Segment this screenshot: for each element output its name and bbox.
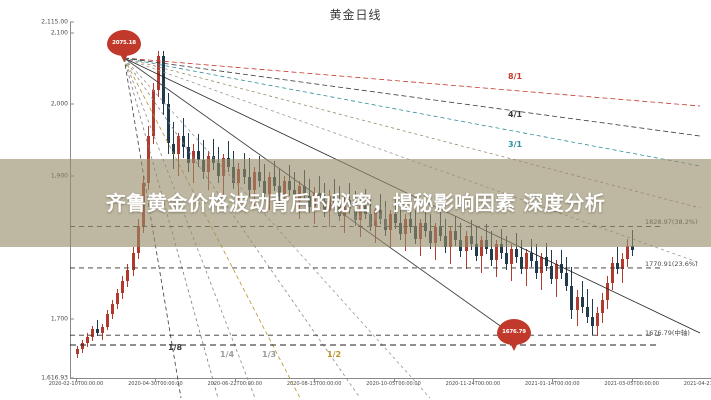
y-tick-mark xyxy=(70,104,74,105)
overlay-banner-text: 齐鲁黄金价格波动背后的秘密，揭秘影响因素 深度分析 xyxy=(36,188,676,218)
swing-low-balloon: 1676.79 xyxy=(497,319,531,351)
balloon-tail-icon xyxy=(509,341,519,351)
fib-level-label: 1676.79(中轴) xyxy=(645,327,690,337)
swing-high-balloon: 2075.18 xyxy=(107,30,141,62)
fan-line xyxy=(124,58,700,136)
gann-fan-label: 1/4 xyxy=(220,350,234,359)
y-tick-mark xyxy=(70,378,74,379)
chart-screenshot: 黄金日线 2,115.002,1002,0001,9001,7001,616.9… xyxy=(0,0,711,400)
gann-fan-label: 8/1 xyxy=(508,72,522,81)
balloon-tail-icon xyxy=(119,52,129,62)
gann-fan-label: 1/8 xyxy=(168,343,182,352)
y-tick-mark xyxy=(70,175,74,176)
y-tick-mark xyxy=(70,32,74,33)
gann-fan-label: 1/3 xyxy=(262,350,276,359)
fib-level-label: 1770.91(23.6%) xyxy=(645,260,698,268)
gann-fan-label: 4/1 xyxy=(508,110,522,119)
fan-line xyxy=(124,58,700,166)
overlay-banner-line2: 深度分析 xyxy=(523,191,605,215)
y-tick-mark xyxy=(70,22,74,23)
gann-fan-label: 1/2 xyxy=(327,350,341,359)
y-tick-mark xyxy=(70,318,74,319)
overlay-banner: 齐鲁黄金价格波动背后的秘密，揭秘影响因素 深度分析 xyxy=(0,159,711,247)
gann-fan-label: 3/1 xyxy=(508,140,522,149)
overlay-banner-line1: 齐鲁黄金价格波动背后的秘密，揭秘影响因素 xyxy=(106,191,516,215)
fan-line xyxy=(124,58,700,106)
